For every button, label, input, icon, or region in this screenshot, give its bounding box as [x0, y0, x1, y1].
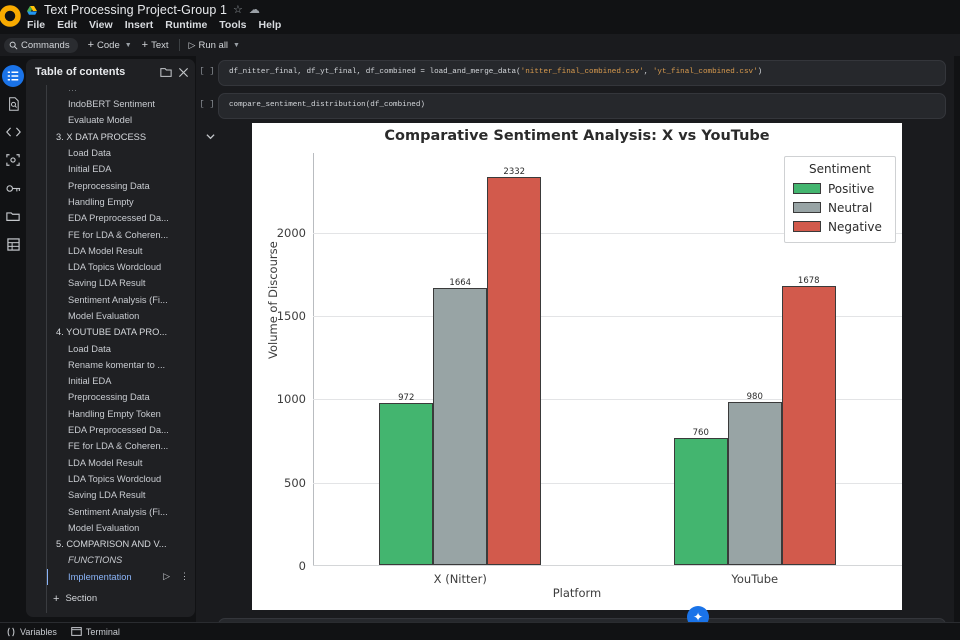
title-bar: Text Processing Project-Group 1 ☆ ☁ File…: [0, 0, 960, 34]
menu-help[interactable]: Help: [259, 19, 282, 31]
toc-item[interactable]: Preprocessing Data: [47, 389, 195, 405]
cell-run-prompt[interactable]: [ ]: [196, 66, 218, 76]
terminal-label: Terminal: [86, 627, 120, 637]
bar-negative-0: [487, 177, 541, 565]
code-cell-2[interactable]: [ ] compare_sentiment_distribution(df_co…: [196, 93, 946, 119]
toc-scroll-dots: ···: [47, 87, 195, 96]
notebook-scrollbar[interactable]: [954, 56, 960, 622]
bar-positive-0: [379, 403, 433, 565]
chevron-down-icon[interactable]: ▼: [125, 42, 132, 49]
cell-run-prompt[interactable]: [ ]: [196, 99, 218, 109]
run-all-button[interactable]: ▷ Run all ▼: [189, 40, 240, 51]
toc-item[interactable]: Handling Empty: [47, 194, 195, 210]
toc-item[interactable]: Rename komentar to ...: [47, 357, 195, 373]
matplotlib-figure: Comparative Sentiment Analysis: X vs You…: [252, 123, 902, 610]
document-title[interactable]: Text Processing Project-Group 1: [44, 3, 227, 17]
toc-item[interactable]: EDA Preprocessed Da...: [47, 422, 195, 438]
bar-value-label: 980: [747, 392, 763, 402]
chart-legend: Sentiment Positive Neutral Negative: [784, 156, 896, 243]
cell-output-2: Comparative Sentiment Analysis: X vs You…: [196, 123, 946, 610]
plus-icon: +: [142, 40, 148, 51]
legend-title: Sentiment: [793, 162, 887, 176]
code-text: df_nitter_final, df_yt_final, df_combine…: [229, 68, 521, 76]
toc-item[interactable]: Model Evaluation: [47, 308, 195, 324]
toc-item[interactable]: Handling Empty Token: [47, 406, 195, 422]
new-section-icon[interactable]: [160, 67, 172, 78]
more-vert-icon[interactable]: ⋮: [180, 571, 189, 582]
toc-item-section[interactable]: 3. X DATA PROCESS: [47, 129, 195, 145]
data-table-icon[interactable]: [0, 230, 26, 258]
legend-label: Negative: [828, 220, 882, 234]
bar-neutral-0: [433, 288, 487, 565]
x-axis-label: Platform: [252, 586, 902, 600]
table-of-contents-panel: Table of contents ··· IndoBERT Sentiment…: [26, 59, 195, 617]
run-all-label: Run all: [198, 40, 228, 51]
bar-value-label: 1678: [798, 276, 820, 286]
add-code-button[interactable]: + Code ▼: [88, 40, 132, 51]
chevron-down-icon[interactable]: ▼: [233, 42, 240, 49]
code-snippets-icon[interactable]: [0, 118, 26, 146]
code-text: compare_sentiment_distribution(df_combin…: [229, 101, 425, 109]
y-axis-spine: [313, 153, 314, 566]
add-text-label: Text: [151, 40, 168, 51]
code-string: 'yt_final_combined.csv': [653, 68, 758, 76]
legend-entry-neutral: Neutral: [793, 198, 887, 217]
toc-item-implementation[interactable]: Implementation ▷ ⋮: [47, 569, 195, 585]
x-tick-label: YouTube: [731, 572, 778, 586]
toc-item[interactable]: Sentiment Analysis (Fi...: [47, 503, 195, 519]
legend-entry-positive: Positive: [793, 179, 887, 198]
table-of-contents-icon[interactable]: [0, 62, 26, 90]
toc-item[interactable]: EDA Preprocessed Da...: [47, 210, 195, 226]
drive-icon: [26, 5, 38, 16]
terminal-icon: [71, 627, 82, 636]
toc-item[interactable]: Model Evaluation: [47, 520, 195, 536]
toc-title: Table of contents: [35, 66, 154, 78]
status-bar: Variables Terminal: [0, 622, 960, 640]
chart-title: Comparative Sentiment Analysis: X vs You…: [252, 128, 902, 144]
y-tick-label: 1000: [257, 392, 313, 406]
menu-insert[interactable]: Insert: [125, 19, 154, 31]
document-title-row: Text Processing Project-Group 1 ☆ ☁: [26, 2, 260, 18]
toc-item[interactable]: LDA Model Result: [47, 243, 195, 259]
bar-value-label: 1664: [449, 278, 471, 288]
files-folder-icon[interactable]: [0, 202, 26, 230]
toc-item[interactable]: Load Data: [47, 145, 195, 161]
commands-label: Commands: [21, 40, 70, 51]
play-icon: ▷: [189, 41, 196, 50]
toc-item[interactable]: FE for LDA & Coheren...: [47, 226, 195, 242]
toc-item-functions[interactable]: FUNCTIONS: [47, 552, 195, 568]
bar-neutral-1: [728, 402, 782, 565]
code-string: 'nitter_final_combined.csv': [521, 68, 644, 76]
bar-value-label: 2332: [503, 167, 525, 177]
toolbar: Commands + Code ▼ + Text ▷ Run all ▼: [0, 34, 960, 56]
legend-label: Positive: [828, 182, 874, 196]
toc-item[interactable]: Sentiment Analysis (Fi...: [47, 292, 195, 308]
y-tick-label: 0: [257, 559, 313, 573]
x-tick-label: X (Nitter): [434, 572, 487, 586]
code-editor[interactable]: compare_sentiment_distribution(df_combin…: [218, 93, 946, 119]
chevron-down-icon[interactable]: [206, 127, 215, 145]
variables-label: Variables: [20, 627, 57, 637]
menu-view[interactable]: View: [89, 19, 113, 31]
code-text: ): [758, 68, 763, 76]
toc-item[interactable]: Preprocessing Data: [47, 177, 195, 193]
code-cell-1[interactable]: [ ] df_nitter_final, df_yt_final, df_com…: [196, 60, 946, 86]
plus-icon: +: [88, 40, 94, 51]
search-icon: [9, 41, 18, 50]
toc-item[interactable]: Load Data: [47, 340, 195, 356]
variables-icon: [6, 627, 16, 637]
bar-positive-1: [674, 438, 728, 565]
toc-header: Table of contents: [26, 59, 195, 85]
colab-logo-icon: [0, 2, 28, 30]
run-icon[interactable]: ▷: [163, 571, 170, 582]
toc-item-section[interactable]: 4. YOUTUBE DATA PRO...: [47, 324, 195, 340]
y-tick-label: 1500: [257, 309, 313, 323]
y-tick-label: 2000: [257, 226, 313, 240]
legend-entry-negative: Negative: [793, 217, 887, 236]
left-icon-rail: [0, 56, 26, 622]
toc-item[interactable]: IndoBERT Sentiment: [47, 96, 195, 112]
code-editor[interactable]: df_nitter_final, df_yt_final, df_combine…: [218, 60, 946, 86]
toc-item[interactable]: Initial EDA: [47, 373, 195, 389]
menu-tools[interactable]: Tools: [219, 19, 246, 31]
x-axis-spine: [313, 565, 902, 566]
toc-item[interactable]: Saving LDA Result: [47, 487, 195, 503]
commands-button[interactable]: Commands: [4, 38, 78, 53]
toc-item[interactable]: LDA Topics Wordcloud: [47, 259, 195, 275]
plus-icon: +: [53, 593, 59, 605]
notebook-area: [ ] df_nitter_final, df_yt_final, df_com…: [196, 56, 960, 622]
bar-value-label: 972: [398, 393, 414, 403]
toc-item[interactable]: Initial EDA: [47, 161, 195, 177]
toc-item[interactable]: LDA Topics Wordcloud: [47, 471, 195, 487]
toc-item[interactable]: FE for LDA & Coheren...: [47, 438, 195, 454]
add-section-label: Section: [65, 593, 97, 604]
add-section-button[interactable]: + Section: [47, 593, 195, 605]
legend-swatch: [793, 221, 821, 232]
code-text: ,: [644, 68, 653, 76]
find-and-replace-icon[interactable]: [0, 90, 26, 118]
legend-swatch: [793, 202, 821, 213]
toc-item[interactable]: LDA Model Result: [47, 455, 195, 471]
y-tick-label: 500: [257, 476, 313, 490]
legend-label: Neutral: [828, 201, 872, 215]
toc-item[interactable]: Saving LDA Result: [47, 275, 195, 291]
command-palette-icon[interactable]: [0, 146, 26, 174]
legend-swatch: [793, 183, 821, 194]
cloud-save-icon[interactable]: ☁: [249, 5, 260, 16]
bar-negative-1: [782, 286, 836, 565]
menu-bar: File Edit View Insert Runtime Tools Help: [27, 19, 281, 31]
star-icon[interactable]: ☆: [233, 5, 243, 16]
terminal-button[interactable]: Terminal: [71, 627, 120, 637]
bar-value-label: 760: [693, 428, 709, 438]
close-icon[interactable]: [178, 67, 189, 78]
secrets-key-icon[interactable]: [0, 174, 26, 202]
menu-edit[interactable]: Edit: [57, 19, 77, 31]
y-axis-label: Volume of Discourse: [266, 241, 280, 359]
toc-list[interactable]: ··· IndoBERT Sentiment Evaluate Model 3.…: [46, 85, 195, 613]
toolbar-divider: [179, 39, 180, 51]
toc-item-label: Implementation: [68, 572, 132, 582]
toc-item-section[interactable]: 5. COMPARISON AND V...: [47, 536, 195, 552]
variables-button[interactable]: Variables: [6, 627, 57, 637]
toc-item[interactable]: Evaluate Model: [47, 112, 195, 128]
menu-file[interactable]: File: [27, 19, 45, 31]
menu-runtime[interactable]: Runtime: [165, 19, 207, 31]
add-code-label: Code: [97, 40, 120, 51]
add-text-button[interactable]: + Text: [142, 40, 169, 51]
